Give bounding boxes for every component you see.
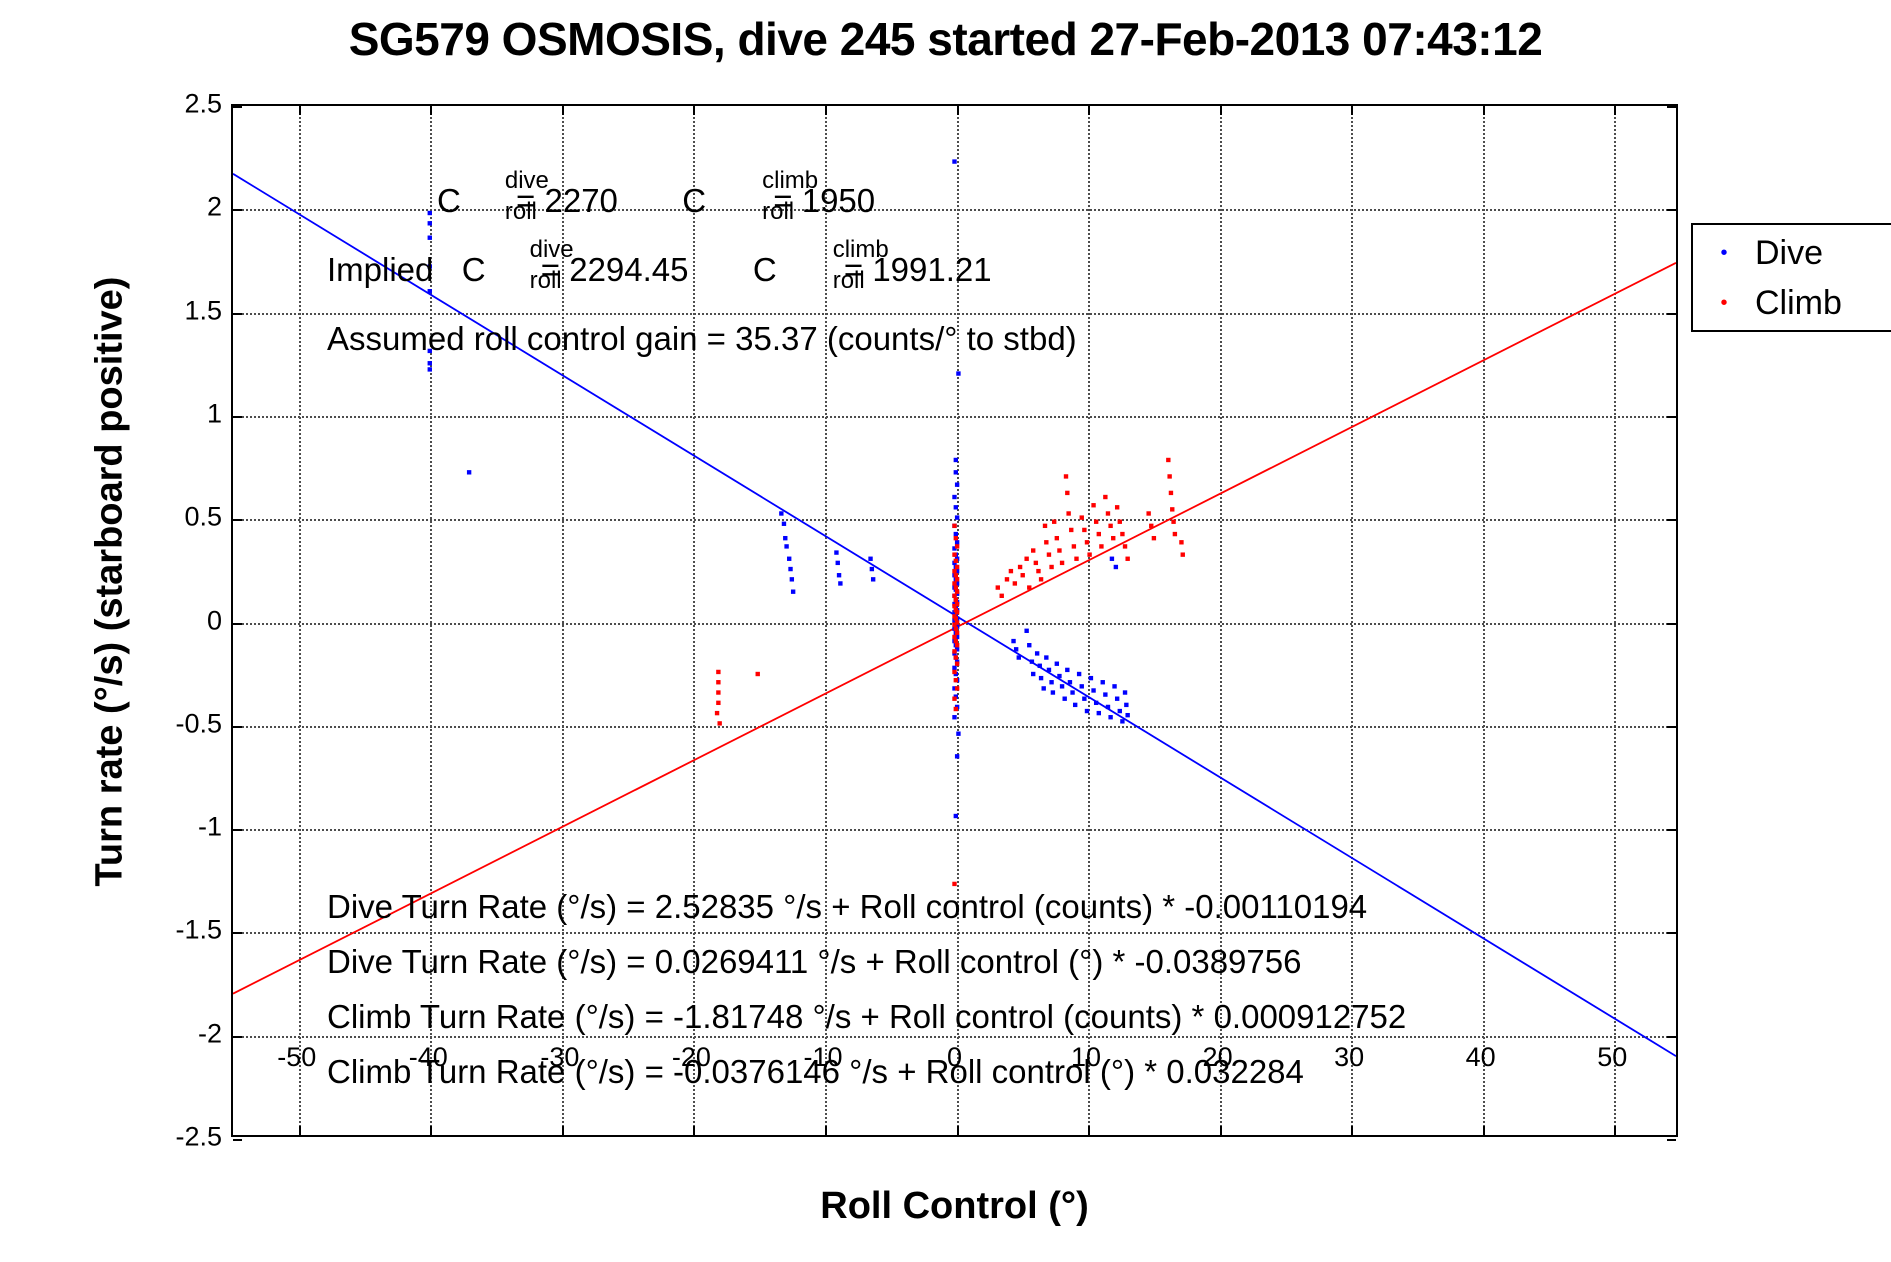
x-tick-label: 20 [1203, 1042, 1233, 1073]
x-tickmark [957, 106, 959, 115]
scatter-point [1055, 662, 1059, 666]
scatter-point [428, 211, 432, 215]
scatter-point [716, 670, 720, 674]
y-tickmark [1667, 519, 1676, 521]
scatter-point [791, 589, 795, 593]
c-roll-climb-superscript: climb [762, 169, 818, 193]
scatter-point [1021, 573, 1025, 577]
implied-climb-superscript: climb [833, 238, 889, 262]
y-tickmark [233, 932, 242, 934]
scatter-point [1060, 684, 1064, 688]
scatter-point [428, 361, 432, 365]
scatter-point [1039, 577, 1043, 581]
scatter-point [1031, 548, 1035, 552]
scatter-point [1120, 719, 1124, 723]
scatter-point [1068, 680, 1072, 684]
scatter-point [1034, 561, 1038, 565]
legend-label-dive: Dive [1755, 234, 1823, 273]
scatter-point [1106, 511, 1110, 515]
scatter-point [1070, 690, 1074, 694]
scatter-point [1014, 647, 1018, 651]
x-tick-label: 0 [947, 1042, 962, 1073]
scatter-point [1072, 544, 1076, 548]
scatter-point [870, 567, 874, 571]
scatter-point [1049, 565, 1053, 569]
c-roll-dive-subscript: roll [505, 200, 537, 224]
scatter-point [1062, 697, 1066, 701]
scatter-point [954, 470, 958, 474]
scatter-point [954, 585, 958, 589]
scatter-point [1087, 552, 1091, 556]
scatter-point [954, 536, 958, 540]
scatter-point [952, 697, 956, 701]
scatter-point [952, 635, 956, 639]
scatter-point [1125, 713, 1129, 717]
scatter-point [955, 515, 959, 519]
scatter-point [954, 655, 958, 659]
y-tick-label: 2.5 [184, 89, 222, 120]
scatter-point [956, 371, 960, 375]
scatter-point [952, 552, 956, 556]
scatter-point [467, 470, 471, 474]
scatter-point [954, 559, 958, 563]
legend-item-climb[interactable]: • Climb [1693, 278, 1891, 328]
scatter-point [955, 643, 959, 647]
scatter-point [1080, 515, 1084, 519]
y-tickmark [1667, 1139, 1676, 1141]
scatter-point [787, 557, 791, 561]
scatter-point [1009, 569, 1013, 573]
scatter-point [1149, 524, 1153, 528]
scatter-point [1057, 674, 1061, 678]
x-tickmark [299, 1126, 301, 1135]
scatter-point [1091, 503, 1095, 507]
y-tick-label: 1.5 [184, 295, 222, 326]
scatter-point [871, 577, 875, 581]
scatter-point [779, 511, 783, 515]
annotation-gain-line: Assumed roll control gain = 35.37 (count… [327, 322, 1077, 355]
scatter-point [1094, 701, 1098, 705]
x-tickmark [1614, 106, 1616, 115]
implied-climb-subscript: roll [833, 269, 865, 293]
scatter-point [1085, 540, 1089, 544]
legend-label-climb: Climb [1755, 284, 1842, 323]
y-tickmark [1667, 932, 1676, 934]
scatter-point [1060, 561, 1064, 565]
implied-c-roll-dive-symbol: Cdiverolldive [462, 253, 530, 286]
scatter-point [1044, 540, 1048, 544]
y-tick-label: -0.5 [175, 708, 222, 739]
scatter-point [1112, 684, 1116, 688]
scatter-point [838, 581, 842, 585]
y-tick-label: -2 [198, 1018, 222, 1049]
x-tickmark [1220, 1126, 1222, 1135]
x-tickmark [1483, 106, 1485, 115]
y-tickmark [233, 416, 242, 418]
scatter-point [1024, 557, 1028, 561]
implied-c-roll-climb-symbol: Cclimbrollclimb [753, 253, 833, 286]
y-tickmark [1667, 623, 1676, 625]
scatter-point [955, 589, 959, 593]
scatter-point [1043, 524, 1047, 528]
x-tickmark [1483, 1126, 1485, 1135]
x-tickmark [1088, 106, 1090, 115]
scatter-point [756, 672, 760, 676]
plot-axes: Cdiverolldive = 2270 Cclimbrollclimb = 1… [231, 104, 1678, 1137]
scatter-point [1042, 686, 1046, 690]
x-tickmark [1220, 106, 1222, 115]
y-tick-label: 2 [207, 192, 222, 223]
scatter-point [1106, 705, 1110, 709]
scatter-point [837, 573, 841, 577]
scatter-point [1077, 672, 1081, 676]
scatter-point [954, 573, 958, 577]
scatter-point [1094, 520, 1098, 524]
scatter-point [716, 690, 720, 694]
x-tickmark [562, 1126, 564, 1135]
y-tick-label: 0.5 [184, 502, 222, 533]
scatter-point [1047, 552, 1051, 556]
scatter-point [1065, 668, 1069, 672]
x-tick-label: -20 [672, 1042, 711, 1073]
scatter-point [1074, 557, 1078, 561]
y-tick-label: 0 [207, 605, 222, 636]
scatter-point [1118, 520, 1122, 524]
x-tick-label: 10 [1071, 1042, 1101, 1073]
scatter-point [952, 882, 956, 886]
scatter-point [954, 627, 958, 631]
scatter-point [428, 236, 432, 240]
scatter-point [1110, 557, 1114, 561]
scatter-point [1049, 680, 1053, 684]
scatter-point [954, 598, 958, 602]
annotation-c-roll-row: Cdiverolldive = 2270 Cclimbrollclimb = 1… [437, 184, 875, 217]
scatter-point [1124, 703, 1128, 707]
figure-container: SG579 OSMOSIS, dive 245 started 27-Feb-2… [0, 0, 1891, 1262]
scatter-point [954, 532, 958, 536]
scatter-point [1085, 709, 1089, 713]
scatter-point [1146, 511, 1150, 515]
implied-prefix-label: Implied [327, 251, 433, 288]
y-tickmark [233, 1036, 242, 1038]
scatter-point [952, 159, 956, 163]
equation-dive-counts: Dive Turn Rate (°/s) = 2.52835 °/s + Rol… [327, 890, 1367, 923]
scatter-point [996, 585, 1000, 589]
x-tickmark [957, 1126, 959, 1135]
scatter-point [954, 505, 958, 509]
scatter-point [1173, 532, 1177, 536]
x-tickmark [693, 1126, 695, 1135]
scatter-point [954, 639, 958, 643]
legend-marker-dive-icon: • [1693, 243, 1755, 263]
x-tickmark [825, 1126, 827, 1135]
scatter-point [834, 550, 838, 554]
x-tick-label: -10 [803, 1042, 842, 1073]
y-tickmark [233, 623, 242, 625]
scatter-point [1031, 672, 1035, 676]
scatter-point [955, 610, 959, 614]
scatter-point [1027, 643, 1031, 647]
scatter-point [782, 522, 786, 526]
scatter-point [1024, 629, 1028, 633]
x-tickmark [825, 106, 827, 115]
scatter-point [1152, 536, 1156, 540]
c-roll-climb-symbol: Cclimbrollclimb [682, 184, 762, 217]
scatter-point [955, 544, 959, 548]
scatter-point [1005, 577, 1009, 581]
x-tickmark [1351, 106, 1353, 115]
scatter-point [1057, 548, 1061, 552]
scatter-point [1080, 684, 1084, 688]
scatter-point [868, 557, 872, 561]
x-tickmark [1088, 1126, 1090, 1135]
scatter-point [716, 680, 720, 684]
scatter-point [952, 670, 956, 674]
scatter-point [1055, 536, 1059, 540]
scatter-point [1123, 690, 1127, 694]
scatter-point [954, 458, 958, 462]
annotation-implied-row: Implied Cdiverolldive = 2294.45 Cclimbro… [327, 253, 992, 286]
equation-climb-counts: Climb Turn Rate (°/s) = -1.81748 °/s + R… [327, 1000, 1406, 1033]
y-tickmark [1667, 106, 1676, 108]
x-tickmark [430, 106, 432, 115]
scatter-point [1108, 524, 1112, 528]
x-tick-label: -50 [277, 1042, 316, 1073]
c-roll-dive-superscript: dive [505, 169, 549, 193]
implied-dive-superscript: dive [530, 238, 574, 262]
scatter-point [1030, 659, 1034, 663]
scatter-point [952, 495, 956, 499]
scatter-point [954, 678, 958, 682]
scatter-point [1097, 532, 1101, 536]
x-tickmark [1614, 1126, 1616, 1135]
scatter-point [1120, 532, 1124, 536]
y-tickmark [1667, 1036, 1676, 1038]
scatter-point [1166, 458, 1170, 462]
scatter-point [1036, 569, 1040, 573]
y-tick-label: -1 [198, 812, 222, 843]
y-axis-label: Turn rate (°/s) (starboard positive) [89, 172, 132, 992]
scatter-point [1111, 536, 1115, 540]
scatter-point [952, 649, 956, 653]
y-tickmark [233, 313, 242, 315]
scatter-point [1179, 540, 1183, 544]
equation-dive-degrees: Dive Turn Rate (°/s) = 0.0269411 °/s + R… [327, 945, 1301, 978]
legend: • Dive • Climb [1691, 223, 1891, 332]
implied-dive-subscript: roll [530, 269, 562, 293]
y-tick-label: 1 [207, 398, 222, 429]
x-tick-label: 50 [1597, 1042, 1627, 1073]
scatter-point [788, 567, 792, 571]
scatter-point [1013, 581, 1017, 585]
x-axis-label: Roll Control (°) [231, 1185, 1678, 1228]
scatter-point [790, 577, 794, 581]
scatter-point [955, 631, 959, 635]
scatter-point [428, 289, 432, 293]
y-tickmark [1667, 209, 1676, 211]
y-tickmark [1667, 726, 1676, 728]
scatter-point [1039, 676, 1043, 680]
x-tickmark [299, 106, 301, 115]
scatter-point [956, 731, 960, 735]
scatter-point [1035, 651, 1039, 655]
x-tick-label: -40 [409, 1042, 448, 1073]
scatter-point [1018, 565, 1022, 569]
page-title: SG579 OSMOSIS, dive 245 started 27-Feb-2… [0, 12, 1891, 66]
scatter-point [955, 565, 959, 569]
scatter-point [1064, 474, 1068, 478]
scatter-point [1123, 544, 1127, 548]
x-tick-label: 40 [1466, 1042, 1496, 1073]
c-roll-climb-subscript: roll [762, 200, 794, 224]
c-roll-dive-symbol: Cdiverolldive [437, 184, 505, 217]
scatter-point [1101, 680, 1105, 684]
scatter-point [954, 814, 958, 818]
scatter-point [955, 754, 959, 758]
scatter-point [1115, 505, 1119, 509]
scatter-point [1115, 697, 1119, 701]
x-tick-label: -30 [540, 1042, 579, 1073]
y-tick-label: -1.5 [175, 915, 222, 946]
legend-item-dive[interactable]: • Dive [1693, 228, 1891, 278]
scatter-point [1097, 711, 1101, 715]
scatter-point [955, 577, 959, 581]
scatter-point [428, 367, 432, 371]
scatter-point [1082, 697, 1086, 701]
x-tickmark [1351, 1126, 1353, 1135]
y-tickmark [233, 726, 242, 728]
scatter-point [716, 701, 720, 705]
scatter-point [783, 536, 787, 540]
scatter-point [955, 686, 959, 690]
scatter-point [1099, 544, 1103, 548]
scatter-point [1125, 557, 1129, 561]
scatter-point [952, 569, 956, 573]
scatter-point [1103, 495, 1107, 499]
scatter-point [428, 221, 432, 225]
scatter-point [715, 711, 719, 715]
y-tickmark [1667, 416, 1676, 418]
x-tick-label: 30 [1334, 1042, 1364, 1073]
scatter-point [1000, 594, 1004, 598]
x-tickmark [430, 1126, 432, 1135]
y-tickmark [233, 209, 242, 211]
scatter-point [1167, 474, 1171, 478]
scatter-point [1066, 511, 1070, 515]
scatter-point [1069, 528, 1073, 532]
scatter-point [952, 594, 956, 598]
scatter-point [1044, 655, 1048, 659]
scatter-point [1118, 709, 1122, 713]
scatter-point [1052, 520, 1056, 524]
y-tickmark [1667, 829, 1676, 831]
scatter-point [1089, 676, 1093, 680]
scatter-point [952, 715, 956, 719]
scatter-point [1047, 668, 1051, 672]
y-tick-label: -2.5 [175, 1122, 222, 1153]
scatter-point [1082, 528, 1086, 532]
y-tickmark [233, 106, 242, 108]
scatter-point [1073, 703, 1077, 707]
scatter-point [1038, 664, 1042, 668]
y-tickmark [233, 829, 242, 831]
scatter-point [717, 721, 721, 725]
y-tickmark [233, 1139, 242, 1141]
scatter-point [1170, 507, 1174, 511]
scatter-point [1181, 552, 1185, 556]
scatter-point [952, 666, 956, 670]
scatter-point [952, 524, 956, 528]
scatter-point [1103, 692, 1107, 696]
scatter-point [836, 561, 840, 565]
scatter-point [1091, 688, 1095, 692]
y-tickmark [1667, 313, 1676, 315]
scatter-point [954, 616, 958, 620]
scatter-point [1051, 690, 1055, 694]
scatter-point [1114, 565, 1118, 569]
scatter-point [952, 622, 956, 626]
scatter-point [955, 482, 959, 486]
x-tickmark [693, 106, 695, 115]
legend-marker-climb-icon: • [1693, 293, 1755, 313]
scatter-point [1027, 585, 1031, 589]
scatter-point [955, 540, 959, 544]
scatter-point [952, 604, 956, 608]
y-tickmark [233, 519, 242, 521]
scatter-point [1108, 715, 1112, 719]
scatter-point [784, 544, 788, 548]
scatter-point [1065, 491, 1069, 495]
scatter-point [954, 707, 958, 711]
x-tickmark [562, 106, 564, 115]
scatter-point [1017, 655, 1021, 659]
scatter-point [952, 581, 956, 585]
scatter-point [1169, 491, 1173, 495]
scatter-point [955, 662, 959, 666]
scatter-point [1171, 520, 1175, 524]
scatter-point [1011, 639, 1015, 643]
